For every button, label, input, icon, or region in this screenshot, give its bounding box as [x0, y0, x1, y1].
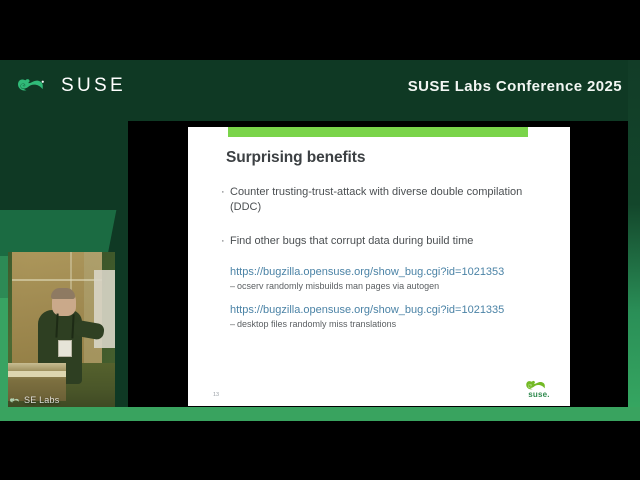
- conference-title: SUSE Labs Conference 2025: [408, 78, 622, 95]
- presenter-lanyard: [55, 314, 74, 339]
- bottom-green-band: [0, 407, 640, 421]
- spacer: [221, 255, 551, 265]
- letterbox-top: [0, 0, 640, 60]
- reference-note: –ocserv randomly misbuilds man pages via…: [230, 281, 551, 293]
- slide-body: · Counter trusting-trust-attack with div…: [221, 185, 551, 331]
- webcam-panel-seam-horizontal: [12, 279, 102, 281]
- letterbox-bottom: [0, 421, 640, 480]
- note-dash: –: [230, 281, 235, 291]
- presenter-hair: [51, 288, 75, 299]
- broadcast-frame: SUSE SUSE Labs Conference 2025 Surprisin…: [0, 60, 640, 421]
- presenter-webcam: SE Labs: [8, 252, 115, 407]
- slide-page-number: 13: [213, 392, 219, 398]
- bullet-marker: ·: [221, 185, 230, 214]
- bullet-text: Find other bugs that corrupt data during…: [230, 234, 551, 249]
- spacer: [221, 220, 551, 234]
- webcam-watermark-text: SE Labs: [24, 395, 59, 405]
- brand-name: SUSE: [61, 76, 126, 95]
- slide-title: Surprising benefits: [226, 149, 365, 167]
- reference-item: https://bugzilla.opensuse.org/show_bug.c…: [230, 265, 551, 293]
- webcam-watermark: SE Labs: [10, 395, 59, 405]
- presenter-badge: [58, 340, 72, 357]
- brand-lockup: SUSE: [18, 74, 126, 96]
- podium-top-edge: [8, 371, 66, 377]
- bugzilla-link[interactable]: https://bugzilla.opensuse.org/show_bug.c…: [230, 303, 551, 317]
- bullet-marker: ·: [221, 234, 230, 249]
- suse-chameleon-icon: [10, 396, 22, 404]
- note-text: desktop files randomly miss translations: [237, 319, 396, 329]
- presentation-slide: Surprising benefits · Counter trusting-t…: [188, 127, 570, 406]
- note-dash: –: [230, 319, 235, 329]
- bullet-item: · Counter trusting-trust-attack with div…: [221, 185, 551, 214]
- slide-accent-bar: [228, 127, 528, 137]
- reference-note: –desktop files randomly miss translation…: [230, 319, 551, 331]
- slide-capture-region: Surprising benefits · Counter trusting-t…: [128, 121, 628, 407]
- bullet-text: Counter trusting-trust-attack with diver…: [230, 185, 551, 214]
- suse-chameleon-icon: [18, 74, 52, 96]
- reference-item: https://bugzilla.opensuse.org/show_bug.c…: [230, 303, 551, 331]
- stream-header: SUSE SUSE Labs Conference 2025: [0, 60, 640, 120]
- bugzilla-link[interactable]: https://bugzilla.opensuse.org/show_bug.c…: [230, 265, 551, 279]
- bullet-item: · Find other bugs that corrupt data duri…: [221, 234, 551, 249]
- spacer: [221, 293, 551, 303]
- stream-stage: SUSE SUSE Labs Conference 2025 Surprisin…: [0, 0, 640, 480]
- note-text: ocserv randomly misbuilds man pages via …: [237, 281, 439, 291]
- slide-footer-logo: suse.: [526, 377, 552, 399]
- footer-logo-word: suse.: [528, 391, 549, 399]
